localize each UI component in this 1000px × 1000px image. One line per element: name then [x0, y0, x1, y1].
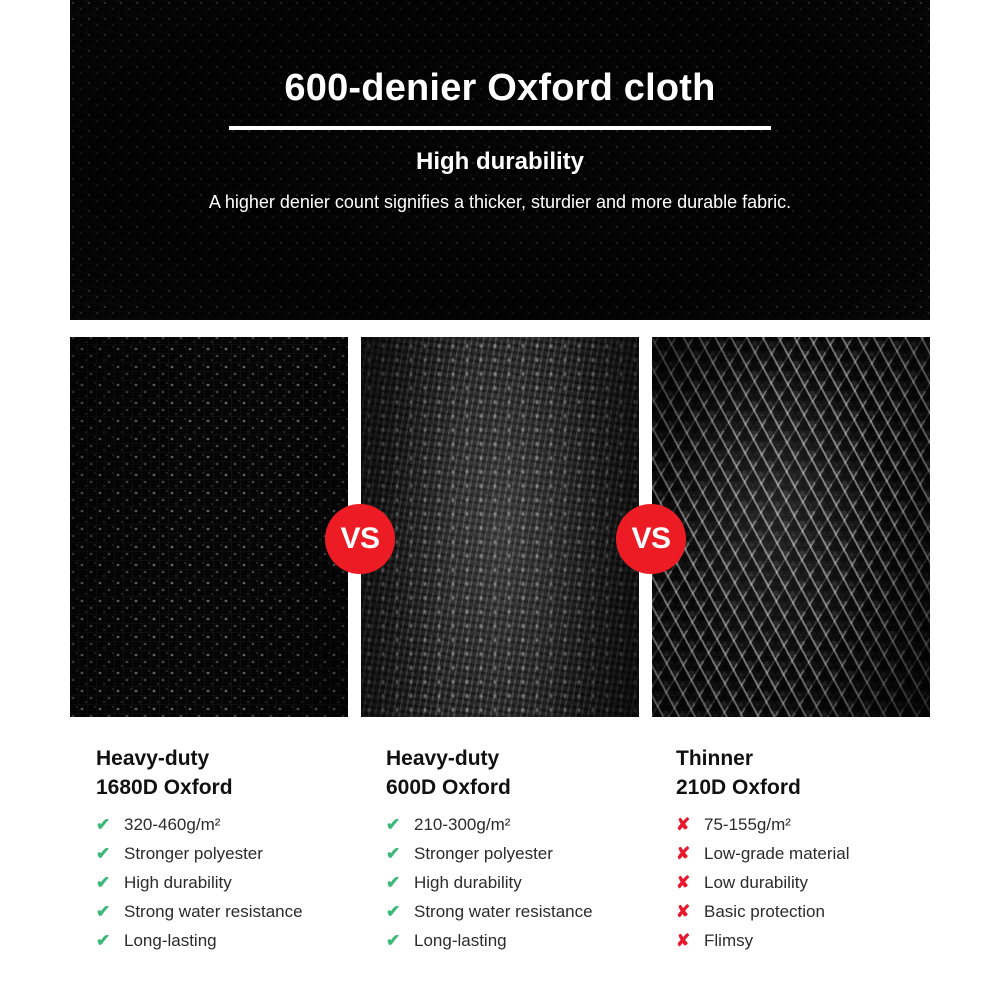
- comparison-columns: Heavy-duty 1680D Oxford ✔ 320-460g/m² ✔ …: [70, 745, 950, 965]
- check-icon: ✔: [386, 932, 414, 949]
- list-item: ✔ High durability: [96, 873, 396, 902]
- swatch-panel-1680d: [70, 337, 348, 717]
- cross-icon: ✘: [676, 845, 704, 862]
- swatch-panel-600d: [361, 337, 639, 717]
- list-item: ✔ Long-lasting: [96, 931, 396, 960]
- feature-label: 320-460g/m²: [124, 815, 396, 835]
- list-item: ✔ 320-460g/m²: [96, 815, 396, 844]
- swatch-shading-overlay: [361, 337, 639, 717]
- feature-list: ✔ 320-460g/m² ✔ Stronger polyester ✔ Hig…: [96, 815, 396, 960]
- list-item: ✔ Strong water resistance: [386, 902, 686, 931]
- feature-label: High durability: [124, 873, 396, 893]
- feature-label: 210-300g/m²: [414, 815, 686, 835]
- feature-label: Low durability: [704, 873, 976, 893]
- list-item: ✘ Basic protection: [676, 902, 976, 931]
- feature-label: Basic protection: [704, 902, 976, 922]
- list-item: ✔ Stronger polyester: [96, 844, 396, 873]
- feature-label: Stronger polyester: [414, 844, 686, 864]
- hero-subtitle: High durability: [416, 148, 584, 176]
- swatch-shading-overlay: [652, 337, 930, 717]
- feature-label: Long-lasting: [124, 931, 396, 951]
- list-item: ✔ Long-lasting: [386, 931, 686, 960]
- comparison-column-1680d: Heavy-duty 1680D Oxford ✔ 320-460g/m² ✔ …: [96, 745, 396, 960]
- list-item: ✔ Stronger polyester: [386, 844, 686, 873]
- hero-banner: 600-denier Oxford cloth High durability …: [70, 0, 930, 320]
- page-title: 600-denier Oxford cloth: [284, 68, 715, 110]
- list-item: ✔ Strong water resistance: [96, 902, 396, 931]
- swatch-panel-210d: [652, 337, 930, 717]
- swatch-shading-overlay: [70, 337, 348, 717]
- list-item: ✔ 210-300g/m²: [386, 815, 686, 844]
- check-icon: ✔: [96, 874, 124, 891]
- check-icon: ✔: [96, 932, 124, 949]
- hero-description: A higher denier count signifies a thicke…: [209, 190, 791, 216]
- vs-badge-2: VS: [616, 504, 686, 574]
- list-item: ✘ 75-155g/m²: [676, 815, 976, 844]
- feature-list: ✔ 210-300g/m² ✔ Stronger polyester ✔ Hig…: [386, 815, 686, 960]
- cross-icon: ✘: [676, 932, 704, 949]
- feature-label: Flimsy: [704, 931, 976, 951]
- feature-label: 75-155g/m²: [704, 815, 976, 835]
- cross-icon: ✘: [676, 874, 704, 891]
- cross-icon: ✘: [676, 903, 704, 920]
- feature-label: Low-grade material: [704, 844, 976, 864]
- feature-label: High durability: [414, 873, 686, 893]
- cross-icon: ✘: [676, 816, 704, 833]
- list-item: ✘ Low-grade material: [676, 844, 976, 873]
- feature-label: Stronger polyester: [124, 844, 396, 864]
- feature-label: Long-lasting: [414, 931, 686, 951]
- check-icon: ✔: [386, 874, 414, 891]
- check-icon: ✔: [386, 845, 414, 862]
- vs-badge-1: VS: [325, 504, 395, 574]
- title-underline-divider: [229, 126, 771, 130]
- column-heading: Thinner 210D Oxford: [676, 745, 976, 803]
- feature-label: Strong water resistance: [124, 902, 396, 922]
- list-item: ✘ Flimsy: [676, 931, 976, 960]
- list-item: ✔ High durability: [386, 873, 686, 902]
- feature-list: ✘ 75-155g/m² ✘ Low-grade material ✘ Low …: [676, 815, 976, 960]
- column-heading: Heavy-duty 600D Oxford: [386, 745, 686, 803]
- comparison-column-210d: Thinner 210D Oxford ✘ 75-155g/m² ✘ Low-g…: [676, 745, 976, 960]
- check-icon: ✔: [96, 903, 124, 920]
- fabric-swatch-panels: VS VS: [70, 337, 930, 717]
- check-icon: ✔: [96, 816, 124, 833]
- feature-label: Strong water resistance: [414, 902, 686, 922]
- check-icon: ✔: [386, 903, 414, 920]
- column-heading: Heavy-duty 1680D Oxford: [96, 745, 396, 803]
- hero-content: 600-denier Oxford cloth High durability …: [70, 0, 930, 320]
- check-icon: ✔: [386, 816, 414, 833]
- check-icon: ✔: [96, 845, 124, 862]
- list-item: ✘ Low durability: [676, 873, 976, 902]
- comparison-column-600d: Heavy-duty 600D Oxford ✔ 210-300g/m² ✔ S…: [386, 745, 686, 960]
